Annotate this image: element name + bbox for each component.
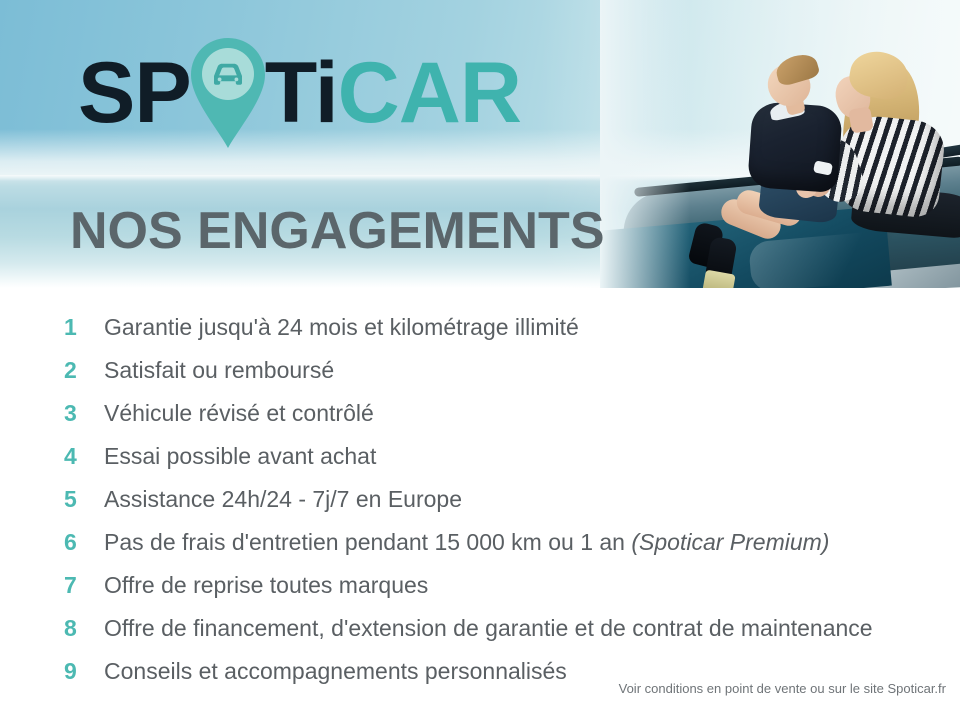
list-item-text: Offre de reprise toutes marques — [104, 564, 428, 607]
list-item: 1 Garantie jusqu'à 24 mois et kilométrag… — [64, 306, 954, 349]
list-item-text: Offre de financement, d'extension de gar… — [104, 607, 873, 650]
logo-text-car: CAR — [338, 50, 521, 136]
logo-text-ti: Ti — [265, 50, 338, 136]
photo-left-fade — [600, 0, 690, 288]
list-item-text: Pas de frais d'entretien pendant 15 000 … — [104, 521, 829, 564]
list-item-number: 4 — [64, 435, 104, 478]
list-item-number: 2 — [64, 349, 104, 392]
spoticar-logo: SP Ti CAR — [78, 47, 521, 139]
list-item-text: Véhicule révisé et contrôlé — [104, 392, 374, 435]
list-item-number: 8 — [64, 607, 104, 650]
page-title: NOS ENGAGEMENTS — [70, 205, 605, 257]
list-item-text: Garantie jusqu'à 24 mois et kilométrage … — [104, 306, 579, 349]
list-item: 4 Essai possible avant achat — [64, 435, 954, 478]
child-hair — [773, 51, 821, 88]
list-item-number: 3 — [64, 392, 104, 435]
list-item-text: Assistance 24h/24 - 7j/7 en Europe — [104, 478, 462, 521]
hero-photo — [600, 0, 960, 288]
map-pin-car-icon — [187, 34, 269, 152]
list-item: 3 Véhicule révisé et contrôlé — [64, 392, 954, 435]
spoticar-commitments-poster: SP Ti CAR NOS ENGAGEMEN — [0, 0, 960, 720]
list-item: 2 Satisfait ou remboursé — [64, 349, 954, 392]
hero-banner: SP Ti CAR NOS ENGAGEMEN — [0, 0, 960, 288]
list-item-number: 9 — [64, 650, 104, 693]
list-item-number: 1 — [64, 306, 104, 349]
list-item-number: 5 — [64, 478, 104, 521]
list-item: 8 Offre de financement, d'extension de g… — [64, 607, 954, 650]
commitments-list: 1 Garantie jusqu'à 24 mois et kilométrag… — [64, 306, 954, 693]
list-item: 6 Pas de frais d'entretien pendant 15 00… — [64, 521, 954, 564]
list-item-text: Satisfait ou remboursé — [104, 349, 334, 392]
legal-disclaimer: Voir conditions en point de vente ou sur… — [619, 681, 946, 696]
list-item-number: 6 — [64, 521, 104, 564]
list-item: 7 Offre de reprise toutes marques — [64, 564, 954, 607]
woman-neck — [848, 106, 874, 133]
list-item-text: Conseils et accompagnements personnalisé… — [104, 650, 567, 693]
list-item-text: Essai possible avant achat — [104, 435, 376, 478]
logo-text-sp: SP — [78, 50, 191, 136]
list-item-number: 7 — [64, 564, 104, 607]
list-item: 5 Assistance 24h/24 - 7j/7 en Europe — [64, 478, 954, 521]
